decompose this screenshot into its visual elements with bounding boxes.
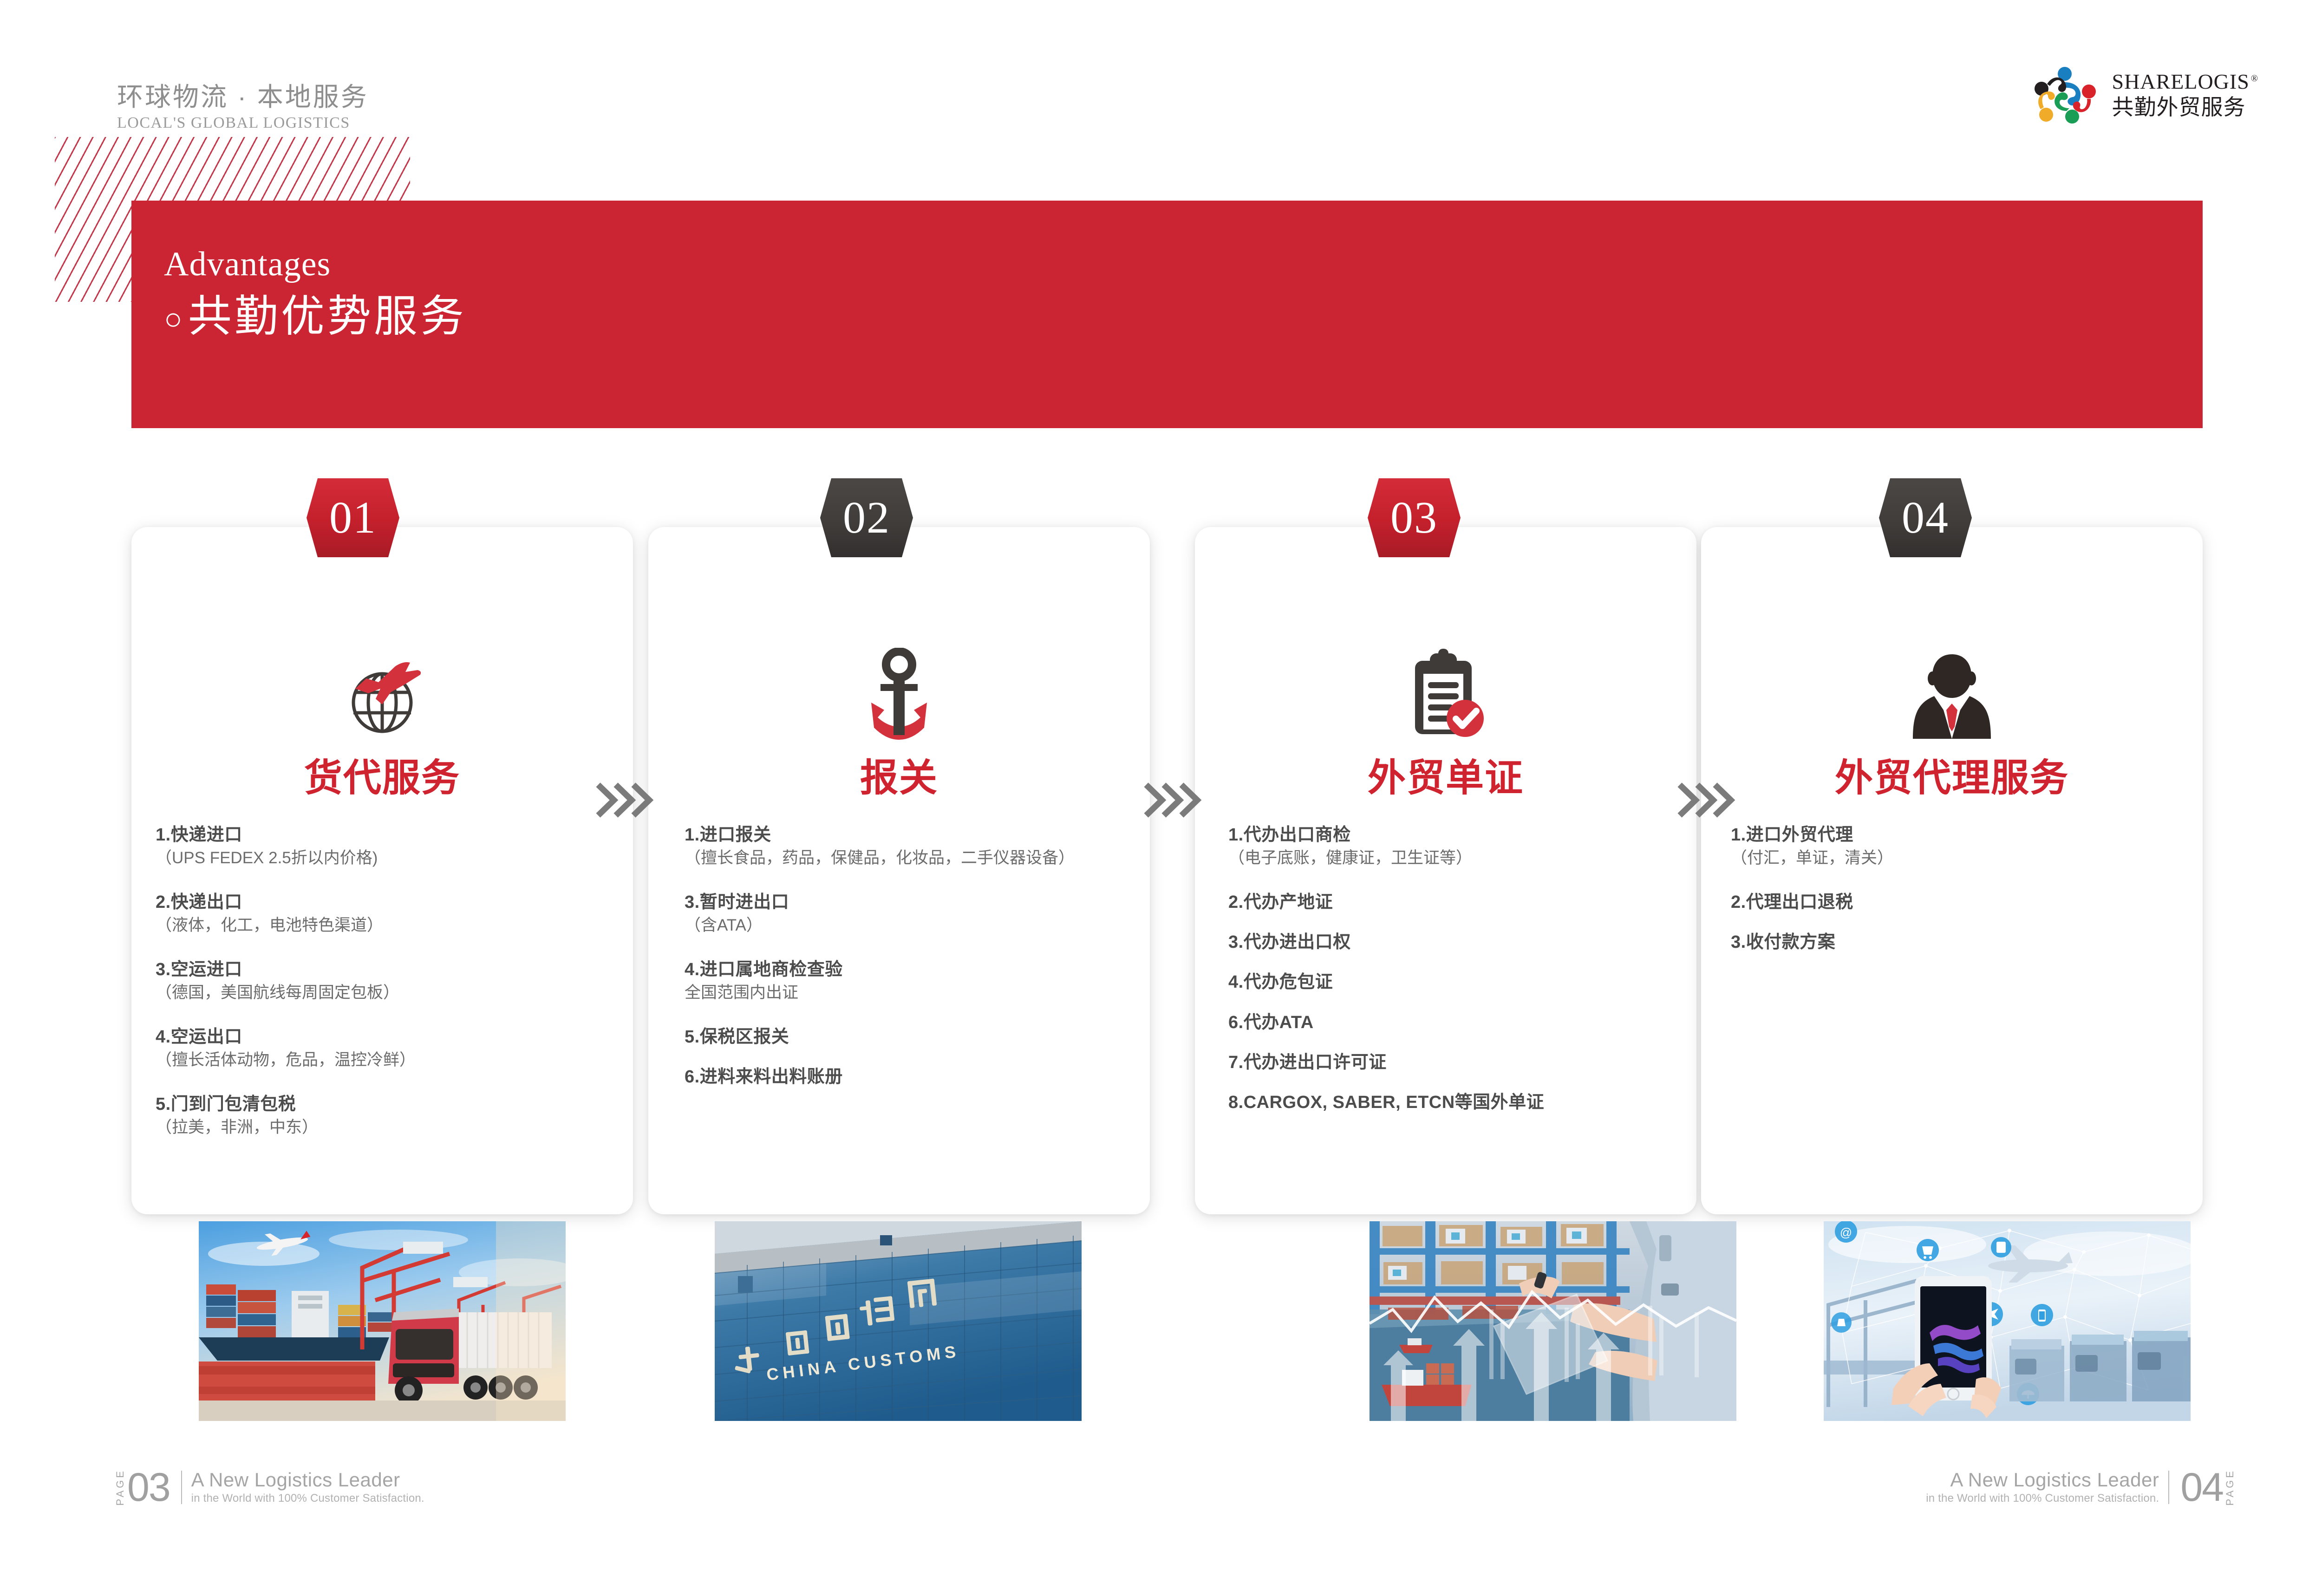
list-item: 5.保税区报关 xyxy=(685,1025,1145,1049)
list-item-sub: （付汇，单证，清关） xyxy=(1731,847,2193,869)
advantage-column-2: 报关 1.进口报关 （擅长食品，药品，保健品，化妆品，二手仪器设备） 3.暂时进… xyxy=(648,527,1150,1214)
list-item-sub: 全国范围内出证 xyxy=(685,982,1145,1004)
list-item-sub: （液体，化工，电池特色渠道） xyxy=(156,915,609,937)
list-item: 1.代办出口商检 （电子底账，健康证，卫生证等） xyxy=(1228,823,1692,869)
list-item: 3.空运进口 （德国，美国航线每周固定包板） xyxy=(156,958,609,1004)
page-label-right: PAGE xyxy=(2225,1469,2235,1506)
list-item-sub: （拉美，非洲，中东） xyxy=(156,1117,609,1139)
brand-name-cn: 环球物流 · 本地服务 xyxy=(117,83,442,111)
section-title-cn: ○共勤优势服务 xyxy=(164,289,467,344)
list-item: 2.代理出口退税 xyxy=(1731,891,2193,914)
list-item: 7.代办进出口许可证 xyxy=(1228,1051,1692,1074)
list-item: 3.收付款方案 xyxy=(1731,931,2193,954)
advantage-title-2: 报关 xyxy=(648,759,1150,797)
section-title-cn-text: 共勤优势服务 xyxy=(188,292,467,340)
list-item-main: 3.空运进口 xyxy=(156,958,609,981)
airplane-globe-icon xyxy=(131,641,633,741)
ring-bullet-icon: ○ xyxy=(164,301,185,336)
section-title-en: Advantages xyxy=(164,247,467,281)
advantage-column-3: 外贸单证 1.代办出口商检 （电子底账，健康证，卫生证等） 2.代办产地证 3.… xyxy=(1195,527,1696,1214)
page-number-right: 04 xyxy=(2180,1467,2223,1507)
list-item-main: 1.进口外贸代理 xyxy=(1731,823,2193,847)
list-item-main: 2.快递出口 xyxy=(156,891,609,914)
brand-block: 环球物流 · 本地服务 LOCAL'S GLOBAL LOGISTICS xyxy=(117,83,442,132)
footer-tagline-left: A New Logistics Leader in the World with… xyxy=(191,1470,424,1505)
advantage-column-1: 货代服务 1.快递进口 （UPS FEDEX 2.5折以内价格) 2.快递出口 … xyxy=(131,527,633,1214)
list-item-main: 4.空运出口 xyxy=(156,1025,609,1049)
list-item-sub: （擅长活体动物，危品，温控冷鲜） xyxy=(156,1049,609,1071)
footer-tagline-line2: in the World with 100% Customer Satisfac… xyxy=(191,1492,424,1505)
list-item: 3.代办进出口权 xyxy=(1228,931,1692,954)
tablet-digital-logistics-network-photo: @ xyxy=(1824,1221,2191,1421)
list-item-main: 5.保税区报关 xyxy=(685,1025,1145,1049)
list-item: 2.代办产地证 xyxy=(1228,891,1692,914)
slide-root: 环球物流 · 本地服务 LOCAL'S GLOBAL LOGISTICS SHA… xyxy=(0,0,2322,1596)
advantage-list-4: 1.进口外贸代理 （付汇，单证，清关） 2.代理出口退税 3.收付款方案 xyxy=(1701,823,2203,964)
advantage-title-1: 货代服务 xyxy=(131,759,633,797)
advantage-title-3: 外贸单证 xyxy=(1195,759,1696,797)
list-item-main: 4.代办危包证 xyxy=(1228,971,1692,994)
list-item: 4.代办危包证 xyxy=(1228,971,1692,994)
triple-chevron-right-icon-2 xyxy=(1141,780,1202,820)
step-badge-01: 01 xyxy=(307,478,399,557)
list-item: 4.进口属地商检查验 全国范围内出证 xyxy=(685,958,1145,1004)
footer-tagline-line2: in the World with 100% Customer Satisfac… xyxy=(1926,1492,2159,1505)
step-badge-03: 03 xyxy=(1368,478,1461,557)
list-item: 4.空运出口 （擅长活体动物，危品，温控冷鲜） xyxy=(156,1025,609,1071)
triple-chevron-right-icon-1 xyxy=(594,780,654,820)
clipboard-check-icon xyxy=(1195,641,1696,741)
logo-name-cn: 共勤外贸服务 xyxy=(2112,95,2258,119)
anchor-icon xyxy=(648,641,1150,741)
businessman-icon xyxy=(1701,641,2203,741)
section-title-banner: Advantages ○共勤优势服务 xyxy=(131,201,2203,428)
list-item-sub: （电子底账，健康证，卫生证等） xyxy=(1228,847,1692,869)
advantage-title-4: 外贸代理服务 xyxy=(1701,759,2203,797)
list-item-main: 3.收付款方案 xyxy=(1731,931,2193,954)
list-item-main: 2.代办产地证 xyxy=(1228,891,1692,914)
logo-name-en-text: SHARELOGIS xyxy=(2112,70,2250,93)
list-item-main: 5.门到门包清包税 xyxy=(156,1093,609,1116)
list-item: 1.进口报关 （擅长食品，药品，保健品，化妆品，二手仪器设备） xyxy=(685,823,1145,869)
list-item-sub: （德国，美国航线每周固定包板） xyxy=(156,982,609,1004)
logo-wordmark: SHARELOGIS® 共勤外贸服务 xyxy=(2112,71,2258,119)
sharelogis-people-circle-logo-icon xyxy=(2031,63,2101,128)
list-item-main: 7.代办进出口许可证 xyxy=(1228,1051,1692,1074)
list-item-sub: （擅长食品，药品，保健品，化妆品，二手仪器设备） xyxy=(685,847,1145,869)
advantage-column-4: 外贸代理服务 1.进口外贸代理 （付汇，单证，清关） 2.代理出口退税 3.收付… xyxy=(1701,527,2203,1214)
section-title-inner: Advantages ○共勤优势服务 xyxy=(164,247,467,344)
china-customs-building-photo: CHINA CUSTOMS xyxy=(715,1221,1082,1421)
list-item-main: 3.代办进出口权 xyxy=(1228,931,1692,954)
list-item-main: 8.CARGOX, SABER, ETCN等国外单证 xyxy=(1228,1091,1692,1114)
advantage-list-3: 1.代办出口商检 （电子底账，健康证，卫生证等） 2.代办产地证 3.代办进出口… xyxy=(1195,823,1696,1124)
list-item: 1.快递进口 （UPS FEDEX 2.5折以内价格) xyxy=(156,823,609,869)
list-item-main: 1.代办出口商检 xyxy=(1228,823,1692,847)
step-badge-04-label: 04 xyxy=(1902,495,1949,541)
list-item: 1.进口外贸代理 （付汇，单证，清关） xyxy=(1731,823,2193,869)
list-item: 2.快递出口 （液体，化工，电池特色渠道） xyxy=(156,891,609,937)
list-item-main: 2.代理出口退税 xyxy=(1731,891,2193,914)
registered-mark-icon: ® xyxy=(2251,73,2258,84)
footer-tagline-right: A New Logistics Leader in the World with… xyxy=(1926,1470,2159,1505)
list-item: 8.CARGOX, SABER, ETCN等国外单证 xyxy=(1228,1091,1692,1114)
footer-divider-left xyxy=(181,1471,182,1504)
port-container-crane-truck-airplane-photo xyxy=(199,1221,566,1421)
list-item: 6.代办ATA xyxy=(1228,1011,1692,1034)
list-item-main: 1.快递进口 xyxy=(156,823,609,847)
page-label-left: PAGE xyxy=(115,1469,125,1506)
list-item-main: 4.进口属地商检查验 xyxy=(685,958,1145,981)
footer-tagline-line1: A New Logistics Leader xyxy=(1950,1470,2159,1490)
inspector-clipboard-port-analytics-photo xyxy=(1370,1221,1736,1421)
list-item-main: 3.暂时进出口 xyxy=(685,891,1145,914)
footer-left: PAGE 03 A New Logistics Leader in the Wo… xyxy=(115,1467,424,1507)
step-badge-04: 04 xyxy=(1879,478,1972,557)
triple-chevron-right-icon-3 xyxy=(1675,780,1735,820)
list-item-main: 6.代办ATA xyxy=(1228,1011,1692,1034)
brand-name-en: LOCAL'S GLOBAL LOGISTICS xyxy=(117,114,442,132)
list-item: 3.暂时进出口 （含ATA） xyxy=(685,891,1145,937)
list-item-main: 1.进口报关 xyxy=(685,823,1145,847)
list-item-sub: （含ATA） xyxy=(685,915,1145,937)
advantage-list-2: 1.进口报关 （擅长食品，药品，保健品，化妆品，二手仪器设备） 3.暂时进出口 … xyxy=(648,823,1150,1099)
list-item-sub: （UPS FEDEX 2.5折以内价格) xyxy=(156,847,609,869)
list-item-main: 6.进料来料出料账册 xyxy=(685,1065,1145,1088)
footer-divider-right xyxy=(2168,1471,2169,1504)
step-badge-02-label: 02 xyxy=(843,495,890,541)
step-badge-02: 02 xyxy=(820,478,913,557)
company-logo: SHARELOGIS® 共勤外贸服务 xyxy=(2031,63,2258,128)
logo-name-en: SHARELOGIS® xyxy=(2112,71,2258,92)
list-item: 5.门到门包清包税 （拉美，非洲，中东） xyxy=(156,1093,609,1139)
svg-text:@: @ xyxy=(1840,1225,1852,1239)
step-badge-03-label: 03 xyxy=(1390,495,1438,541)
list-item: 6.进料来料出料账册 xyxy=(685,1065,1145,1088)
advantage-list-1: 1.快递进口 （UPS FEDEX 2.5折以内价格) 2.快递出口 （液体，化… xyxy=(131,823,633,1149)
footer-right: A New Logistics Leader in the World with… xyxy=(1926,1467,2235,1507)
footer-tagline-line1: A New Logistics Leader xyxy=(191,1470,424,1490)
step-badge-01-label: 01 xyxy=(329,495,377,541)
page-number-left: 03 xyxy=(127,1467,170,1507)
